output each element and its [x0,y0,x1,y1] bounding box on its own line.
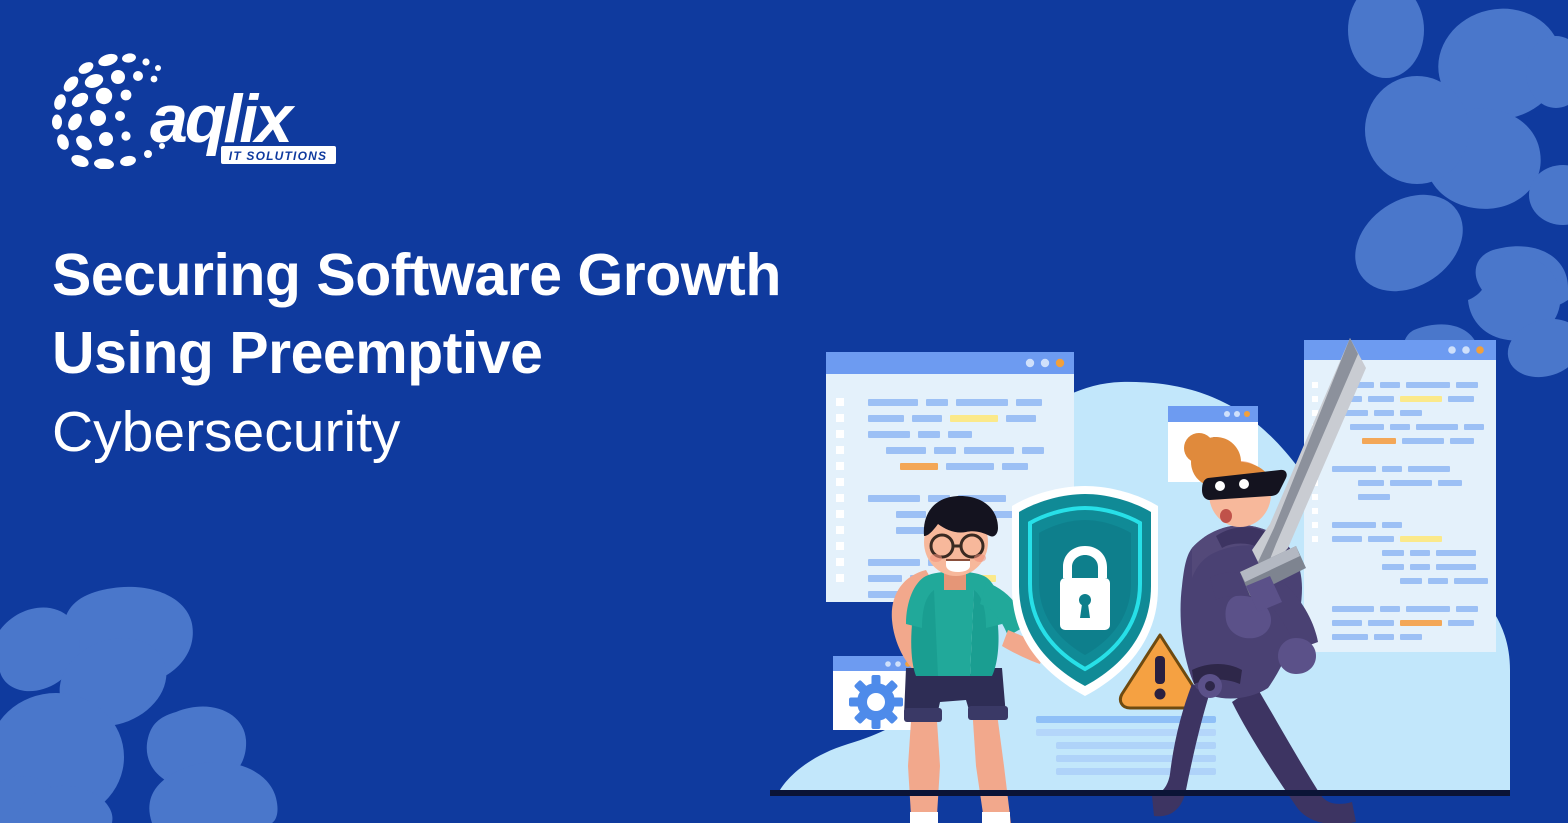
headline-line-1: Securing Software Growth [52,236,882,314]
gear-icon [849,675,903,729]
banner-root: aqlix IT SOLUTIONS Securing Software Gro… [0,0,1568,823]
sphere-dots-icon [52,52,165,169]
logo-wordmark: aqlix [150,81,296,157]
svg-text:IT SOLUTIONS: IT SOLUTIONS [229,149,327,163]
cybersecurity-hero-illustration: </> [740,320,1530,823]
ground-line [770,790,1510,796]
logo-tagline: IT SOLUTIONS [221,146,336,164]
svg-text:aqlix: aqlix [150,81,296,157]
logo[interactable]: aqlix IT SOLUTIONS [46,44,346,169]
